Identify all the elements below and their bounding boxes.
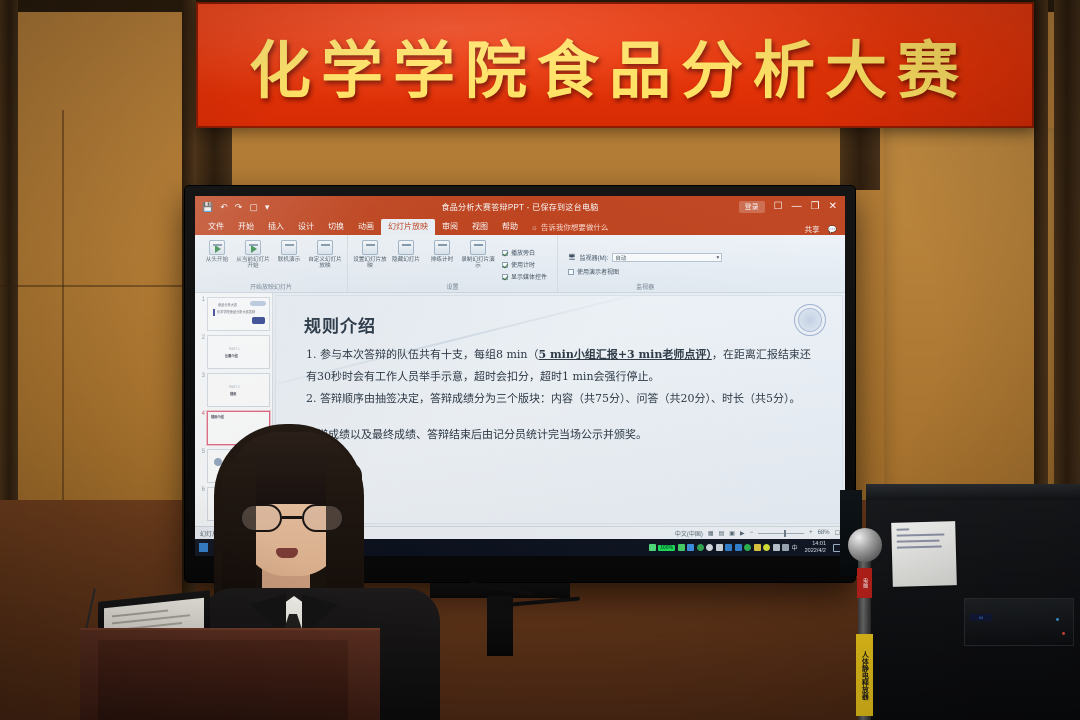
undo-icon[interactable]: ↶: [220, 202, 228, 213]
glasses-bridge: [282, 516, 302, 519]
tab-slideshow[interactable]: 幻灯片放映: [381, 219, 435, 235]
ribbon-display-icon[interactable]: ☐: [774, 202, 783, 212]
restore-button[interactable]: ❐: [811, 202, 820, 212]
wall-seam-vertical: [62, 110, 64, 510]
clock-date: 2022/4/2: [805, 548, 826, 554]
checkbox-box[interactable]: [502, 250, 508, 256]
esd-touch-sphere[interactable]: [848, 528, 882, 562]
checkbox-presenter-view[interactable]: 使用演示者视图: [568, 267, 722, 276]
rack-led: [1062, 632, 1065, 635]
comments-icon[interactable]: 💬: [828, 225, 837, 234]
custom-slideshow-icon: [317, 240, 333, 255]
close-button[interactable]: ✕: [829, 202, 837, 212]
rule1-part1: 1. 参与本次答辩的队伍共有十支，每组8 min（: [306, 348, 539, 361]
sign-in-button[interactable]: 登录: [739, 201, 765, 213]
play-from-current-icon: [245, 240, 261, 255]
zoom-in-button[interactable]: +: [809, 530, 813, 536]
wall-column-center-2: [840, 128, 880, 190]
language-indicator[interactable]: 中文(中国): [675, 529, 703, 538]
tab-transitions[interactable]: 切换: [321, 219, 351, 235]
keyboard-icon[interactable]: [773, 544, 780, 551]
bluetooth-icon[interactable]: [687, 544, 694, 551]
thumb-text: 化学学院食品分析大赛答辩: [217, 309, 255, 314]
tab-help[interactable]: 帮助: [495, 219, 525, 235]
checkbox-box[interactable]: [502, 262, 508, 268]
checkbox-box[interactable]: [502, 274, 508, 280]
group-label-monitors: 监视器: [558, 282, 732, 291]
monitor-select-row[interactable]: 🖥 监视器(M): 自动 ▾: [568, 253, 722, 262]
chevron-down-icon[interactable]: ▾: [717, 255, 720, 261]
thumb-shape: [250, 301, 266, 306]
share-button[interactable]: 共享: [805, 224, 820, 235]
usb-icon[interactable]: [716, 544, 723, 551]
zoom-level[interactable]: 68%: [818, 530, 830, 536]
tab-animations[interactable]: 动画: [351, 219, 381, 235]
ribbon-group-setup: 设置幻灯片放映 隐藏幻灯片 排练计时 录制幻灯片演示: [347, 235, 557, 292]
rack-display: 88: [970, 614, 992, 621]
monitor-icon: 🖥: [568, 254, 576, 261]
slide-title: 规则介绍: [304, 312, 376, 337]
tab-design[interactable]: 设计: [291, 219, 321, 235]
slide-paragraph-rule-2: 2. 答辩顺序由抽签决定，答辩成绩分为三个版块：内容（共75分）、问答（共20分…: [306, 388, 820, 410]
volume-icon[interactable]: [782, 544, 789, 551]
redo-icon[interactable]: ↷: [235, 202, 243, 213]
lightbulb-icon: ☼: [531, 223, 538, 232]
thumb-text: PART 2: [229, 385, 240, 389]
quick-access-toolbar[interactable]: 💾 ↶ ↷ ▢ ▾: [195, 202, 269, 213]
network-icon[interactable]: [706, 544, 713, 551]
thumb-text: PART 1: [229, 347, 240, 351]
reading-view-icon[interactable]: ▣: [729, 530, 735, 537]
university-seal-icon: [794, 304, 826, 336]
thumb-number: 3: [197, 373, 205, 380]
rule1-underlined: 5 min小组汇报+3 min老师点评）: [539, 348, 712, 361]
ribbon-group-monitors: 🖥 监视器(M): 自动 ▾ 使用演示者视图: [557, 235, 732, 292]
notice-text-line: [896, 528, 909, 530]
slideshow-icon[interactable]: ▶: [740, 530, 745, 537]
checkbox-play-narrations[interactable]: 播放旁白: [502, 248, 547, 257]
thumbnail-row[interactable]: 3 PART 2 规则: [197, 373, 270, 407]
group-label-setup: 设置: [348, 282, 557, 291]
update-icon[interactable]: [763, 544, 770, 551]
laptop-text-line: [112, 610, 168, 617]
monitor-dropdown[interactable]: 自动 ▾: [612, 253, 722, 262]
lens-right: [302, 504, 344, 532]
battery-icon[interactable]: [678, 544, 685, 551]
thumb-text: 食品分析大赛: [218, 302, 237, 307]
zoom-out-button[interactable]: −: [750, 530, 754, 536]
rack-led: [1056, 618, 1059, 621]
mouth: [276, 548, 298, 558]
shield-icon[interactable]: [697, 544, 704, 551]
tab-home[interactable]: 开始: [231, 219, 261, 235]
podium-front-panel: [98, 640, 348, 720]
ime-icon[interactable]: 中: [792, 543, 798, 552]
monitor-value: 自动: [615, 254, 626, 262]
display-icon[interactable]: [725, 544, 732, 551]
eyeglasses: [240, 504, 344, 532]
tab-file[interactable]: 文件: [201, 219, 231, 235]
notice-paper: [891, 521, 957, 587]
checkbox-use-timings[interactable]: 使用计时: [502, 260, 547, 269]
banner-title: 化学学院食品分析大赛: [249, 20, 969, 110]
setup-slideshow-icon: [362, 240, 378, 255]
rack-top-surface: [866, 484, 1080, 500]
ribbon-right-actions[interactable]: 共享 💬: [805, 224, 845, 235]
thumbnail-row[interactable]: 1 食品分析大赛 化学学院食品分析大赛答辩: [197, 297, 270, 331]
notice-text-line: [896, 533, 944, 536]
wall-seam-horizontal: [0, 285, 200, 287]
thumb-image: [252, 317, 265, 324]
event-banner: 化学学院食品分析大赛: [196, 2, 1034, 128]
zoom-slider[interactable]: [758, 533, 804, 534]
tell-me-box[interactable]: ☼ 告诉我你想要做什么: [525, 220, 614, 235]
hide-slide-icon: [398, 240, 414, 255]
ppt-title-bar: 💾 ↶ ↷ ▢ ▾ 食品分析大赛答辩PPT - 已保存到这台电脑 登录 ☐ — …: [195, 196, 845, 218]
equipment-rack: 88 电脑 人体静电释放器: [866, 498, 1080, 720]
slide-paragraph-rule-1: 1. 参与本次答辩的队伍共有十支，每组8 min（5 min小组汇报+3 min…: [306, 344, 820, 388]
lens-left: [240, 504, 282, 532]
slide-sorter-icon[interactable]: ▤: [719, 530, 725, 537]
checkbox-show-media-controls[interactable]: 显示媒体控件: [502, 272, 547, 281]
wall-panel-right: [884, 128, 1054, 500]
thumbnail-slide-2[interactable]: PART 1 比赛介绍: [207, 335, 270, 369]
thumb-number: 4: [197, 411, 205, 418]
normal-view-icon[interactable]: ▦: [708, 530, 714, 537]
thumbnail-slide-3[interactable]: PART 2 规则: [207, 373, 270, 407]
present-online-icon: [281, 240, 297, 255]
wall-column-center: [196, 128, 232, 190]
status-right-controls[interactable]: 中文(中国) ▦ ▤ ▣ ▶ − + 68% ☐: [675, 529, 840, 538]
tab-insert[interactable]: 插入: [261, 219, 291, 235]
sound-card-icon[interactable]: [735, 544, 742, 551]
esd-top-label: 电脑: [857, 568, 872, 598]
esd-pole-label: 人体静电释放器: [856, 634, 873, 716]
customize-qat-icon[interactable]: ▾: [265, 202, 270, 213]
ribbon-slideshow-tab[interactable]: 从头开始 从当前幻灯片开始 联机演示 自定义幻灯片放映: [195, 235, 845, 293]
thumbnail-slide-1[interactable]: 食品分析大赛 化学学院食品分析大赛答辩: [207, 297, 270, 331]
start-slideshow-icon[interactable]: ▢: [249, 202, 258, 213]
warning-icon[interactable]: [754, 544, 761, 551]
notice-text-line: [897, 540, 940, 543]
save-icon[interactable]: 💾: [202, 202, 213, 213]
play-from-start-icon: [209, 240, 225, 255]
battery-indicator[interactable]: 100%: [658, 545, 675, 551]
checkbox-box[interactable]: [568, 269, 574, 275]
wall-pillar-right: [1054, 0, 1080, 500]
app-icon[interactable]: [744, 544, 751, 551]
thumb-number: 2: [197, 335, 205, 342]
thumb-number: 1: [197, 297, 205, 304]
thumb-text: 规则: [230, 391, 236, 396]
notice-text-line: [897, 546, 942, 549]
window-controls[interactable]: 登录 ☐ — ❐ ✕: [739, 201, 845, 213]
record-slideshow-icon: [470, 240, 486, 255]
tab-view[interactable]: 视图: [465, 219, 495, 235]
thumb-text: 比赛介绍: [225, 353, 238, 358]
power-icon[interactable]: [649, 544, 656, 551]
rehearse-timings-icon: [434, 240, 450, 255]
group-label-start-slideshow: 开始放映幻灯片: [195, 282, 347, 291]
minimize-button[interactable]: —: [792, 202, 802, 212]
tell-me-label: 告诉我你想要做什么: [541, 222, 609, 233]
ribbon-group-start-slideshow: 从头开始 从当前幻灯片开始 联机演示 自定义幻灯片放映: [195, 235, 347, 292]
ribbon-tab-bar[interactable]: 文件 开始 插入 设计 切换 动画 幻灯片放映 审阅 视图 帮助 ☼ 告诉我你想…: [195, 218, 845, 235]
rack-equipment-panel: [964, 598, 1074, 646]
thumbnail-row[interactable]: 2 PART 1 比赛介绍: [197, 335, 270, 369]
system-tray[interactable]: 100% 中: [649, 543, 798, 552]
taskbar-clock[interactable]: 14:01 2022/4/2: [802, 541, 829, 555]
lecture-hall-scene: 化学学院食品分析大赛 💾 ↶ ↷ ▢ ▾ 食品分析大赛答辩PPT - 已保存到这…: [0, 0, 1080, 720]
thumb-accent: [213, 309, 215, 316]
tab-review[interactable]: 审阅: [435, 219, 465, 235]
podium: [80, 596, 380, 720]
clock-time: 14:01: [812, 541, 826, 547]
